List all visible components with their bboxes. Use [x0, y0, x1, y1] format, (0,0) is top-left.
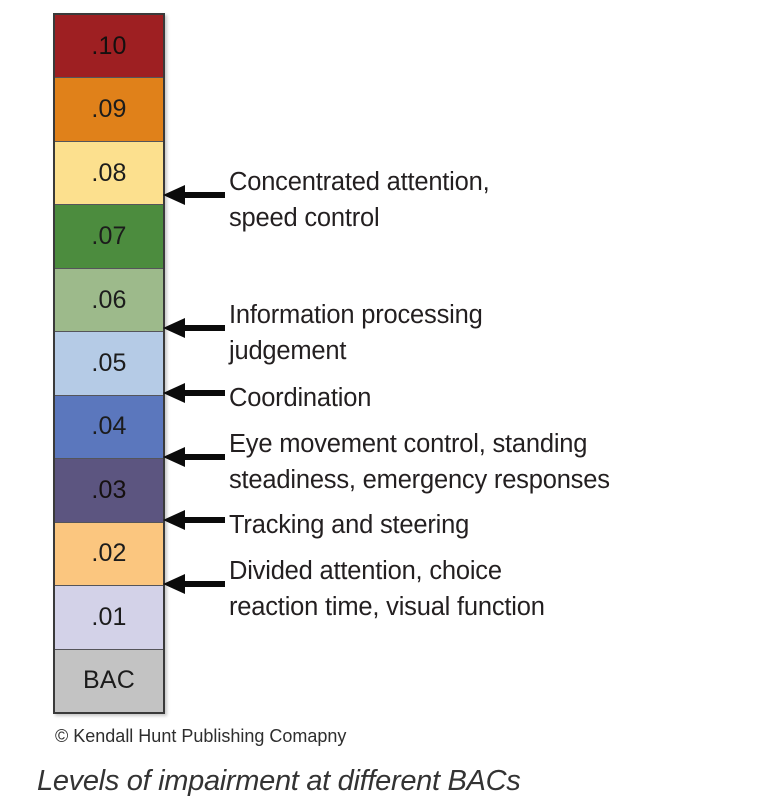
arrow-shaft [183, 390, 225, 396]
bac-band-03: .03 [55, 459, 163, 522]
arrow-shaft [183, 192, 225, 198]
bac-band-bac: BAC [55, 650, 163, 712]
bac-band-label: .05 [91, 351, 126, 376]
left-arrow-icon [163, 447, 225, 467]
impairment-label-line1: Divided attention, choice [229, 553, 545, 589]
arrow-head [163, 383, 185, 403]
impairment-label-line1: Concentrated attention, [229, 164, 490, 200]
left-arrow-icon [163, 510, 225, 530]
impairment-label: Concentrated attention,speed control [229, 164, 490, 236]
impairment-label-line1: Eye movement control, standing [229, 426, 610, 462]
bac-impairment-figure: .10.09.08.07.06.05.04.03.02.01BAC Concen… [0, 0, 782, 810]
left-arrow-icon [163, 383, 225, 403]
bac-band-label: .08 [91, 161, 126, 186]
bac-band-label: .07 [91, 224, 126, 249]
left-arrow-icon [163, 318, 225, 338]
impairment-label-line2: steadiness, emergency responses [229, 462, 610, 498]
impairment-label: Information processingjudgement [229, 297, 483, 369]
publisher-credit: © Kendall Hunt Publishing Comapny [55, 726, 346, 747]
arrow-shaft [183, 517, 225, 523]
arrow-head [163, 510, 185, 530]
impairment-label-line2: judgement [229, 333, 483, 369]
impairment-label: Tracking and steering [229, 507, 469, 543]
impairment-label-line2: speed control [229, 200, 490, 236]
bac-band-09: .09 [55, 78, 163, 141]
arrow-shaft [183, 454, 225, 460]
bac-band-label: .06 [91, 288, 126, 313]
arrow-head [163, 318, 185, 338]
impairment-label: Coordination [229, 380, 371, 416]
bac-level-strip: .10.09.08.07.06.05.04.03.02.01BAC [53, 13, 165, 714]
bac-band-01: .01 [55, 586, 163, 649]
figure-caption: Levels of impairment at different BACs [37, 765, 520, 798]
left-arrow-icon [163, 185, 225, 205]
arrow-shaft [183, 325, 225, 331]
bac-band-08: .08 [55, 142, 163, 205]
left-arrow-icon [163, 574, 225, 594]
bac-band-04: .04 [55, 396, 163, 459]
impairment-label-line1: Tracking and steering [229, 507, 469, 543]
bac-band-02: .02 [55, 523, 163, 586]
arrow-head [163, 185, 185, 205]
bac-band-label: .01 [91, 605, 126, 630]
impairment-label-line2: reaction time, visual function [229, 589, 545, 625]
arrow-shaft [183, 581, 225, 587]
bac-band-label: .10 [91, 34, 126, 59]
arrow-head [163, 447, 185, 467]
bac-band-10: .10 [55, 15, 163, 78]
arrow-head [163, 574, 185, 594]
bac-band-label: .04 [91, 414, 126, 439]
impairment-label-line1: Coordination [229, 380, 371, 416]
bac-band-label: .09 [91, 97, 126, 122]
bac-band-label: .03 [91, 478, 126, 503]
bac-band-label: .02 [91, 541, 126, 566]
bac-band-label: BAC [83, 668, 135, 693]
bac-band-07: .07 [55, 205, 163, 268]
bac-band-06: .06 [55, 269, 163, 332]
impairment-label: Divided attention, choicereaction time, … [229, 553, 545, 625]
bac-band-05: .05 [55, 332, 163, 395]
impairment-label-line1: Information processing [229, 297, 483, 333]
impairment-label: Eye movement control, standingsteadiness… [229, 426, 610, 498]
